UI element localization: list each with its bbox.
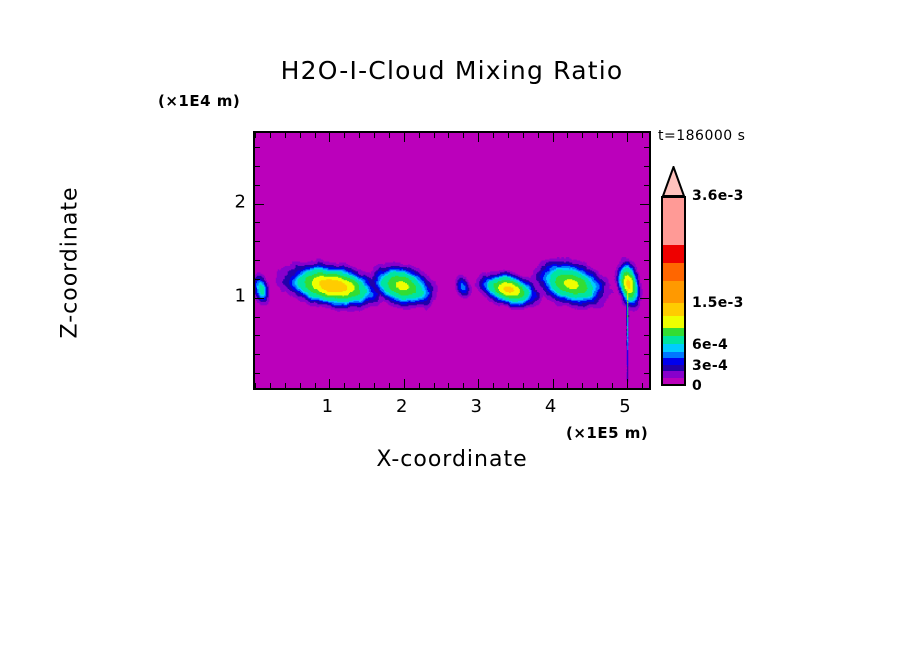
axis-tick [255,373,260,374]
page-title: H2O-I-Cloud Mixing Ratio [0,56,904,85]
axis-tick [553,379,554,388]
axis-tick [270,133,271,138]
axis-tick [285,383,286,388]
axis-tick [597,133,598,138]
axis-tick [538,133,539,138]
axis-tick [255,335,260,336]
axis-tick [404,379,405,388]
y-axis-title: Z-coordinate [58,133,83,393]
y-tick-label: 1 [216,285,246,306]
axis-tick [434,383,435,388]
axis-tick [642,383,643,388]
axis-tick [300,383,301,388]
colorbar-segment [663,358,684,365]
z-axis-units-label: (×1E4 m) [158,92,240,110]
axis-tick [644,317,649,318]
axis-tick [448,383,449,388]
colorbar-segment [663,344,684,353]
figure-canvas: H2O-I-Cloud Mixing Ratio (×1E4 m) t=1860… [0,0,904,654]
axis-tick [419,383,420,388]
axis-tick [582,383,583,388]
axis-tick [300,133,301,138]
axis-tick [644,241,649,242]
colorbar-segment [663,262,684,280]
axis-tick [359,133,360,138]
axis-tick [389,383,390,388]
colorbar-segment [663,327,684,336]
axis-tick [315,133,316,138]
x-tick-label: 4 [545,396,556,417]
contour-plot-area [253,131,651,390]
axis-tick [255,383,256,388]
axis-tick [255,241,260,242]
colorbar-tick-label: 3.6e-3 [692,188,744,204]
axis-tick [627,133,628,142]
axis-tick [627,379,628,388]
axis-tick [448,133,449,138]
axis-tick [255,204,264,205]
axis-tick [463,133,464,138]
axis-tick [255,147,260,148]
axis-tick [270,383,271,388]
axis-tick [374,133,375,138]
axis-tick [567,383,568,388]
axis-tick [640,298,649,299]
axis-tick [644,279,649,280]
axis-tick [478,133,479,142]
y-tick-label: 2 [216,191,246,212]
axis-tick [493,383,494,388]
axis-tick [329,133,330,142]
colorbar-segment [663,364,684,371]
axis-tick [612,133,613,138]
colorbar-segment [663,371,684,378]
axis-tick [255,185,260,186]
axis-tick [463,383,464,388]
axis-tick [567,133,568,138]
colorbar-segment [663,280,684,302]
axis-tick [493,133,494,138]
colorbar-segment [663,335,684,344]
axis-tick [553,133,554,142]
axis-tick [255,133,256,138]
axis-tick [285,133,286,138]
x-tick-label: 5 [619,396,630,417]
axis-tick [582,133,583,138]
colorbar-segment [663,377,684,384]
axis-tick [419,133,420,138]
colorbar-extend-arrow [661,166,686,197]
colorbar-segment [663,316,684,328]
axis-tick [644,335,649,336]
axis-tick [642,133,643,138]
axis-tick [255,166,260,167]
axis-tick [389,133,390,138]
contour-field [255,133,649,388]
colorbar-tick-label: 0 [692,378,702,394]
axis-tick [434,133,435,138]
axis-tick [404,133,405,142]
axis-tick [344,383,345,388]
axis-tick [644,166,649,167]
axis-tick [255,222,260,223]
contour-canvas [255,133,649,388]
x-tick-label: 1 [322,396,333,417]
axis-tick [538,383,539,388]
axis-tick [329,379,330,388]
colorbar-segment [663,302,684,316]
axis-tick [644,185,649,186]
axis-tick [255,260,260,261]
axis-tick [255,298,264,299]
axis-tick [344,133,345,138]
axis-tick [315,383,316,388]
colorbar-segment [663,352,684,359]
axis-tick [644,222,649,223]
colorbar-segment [663,198,684,245]
axis-tick [644,354,649,355]
colorbar-arrow-icon [661,166,686,197]
axis-tick [508,133,509,138]
colorbar-tick-label: 1.5e-3 [692,295,744,311]
axis-tick [359,383,360,388]
axis-tick [612,383,613,388]
axis-tick [255,279,260,280]
axis-tick [644,147,649,148]
x-axis-units-label: (×1E5 m) [566,424,648,442]
x-tick-label: 3 [470,396,481,417]
axis-tick [374,383,375,388]
axis-tick [597,383,598,388]
axis-tick [644,373,649,374]
axis-tick [508,383,509,388]
colorbar-segment [663,244,684,262]
axis-tick [478,379,479,388]
colorbar [661,196,686,386]
axis-tick [523,383,524,388]
axis-tick [640,204,649,205]
colorbar-tick-label: 3e-4 [692,358,728,374]
axis-tick [255,354,260,355]
axis-tick [523,133,524,138]
x-axis-title: X-coordinate [253,447,651,472]
x-tick-label: 2 [396,396,407,417]
axis-tick [255,317,260,318]
colorbar-tick-label: 6e-4 [692,337,728,353]
axis-tick [644,260,649,261]
timestamp-label: t=186000 s [658,128,745,144]
